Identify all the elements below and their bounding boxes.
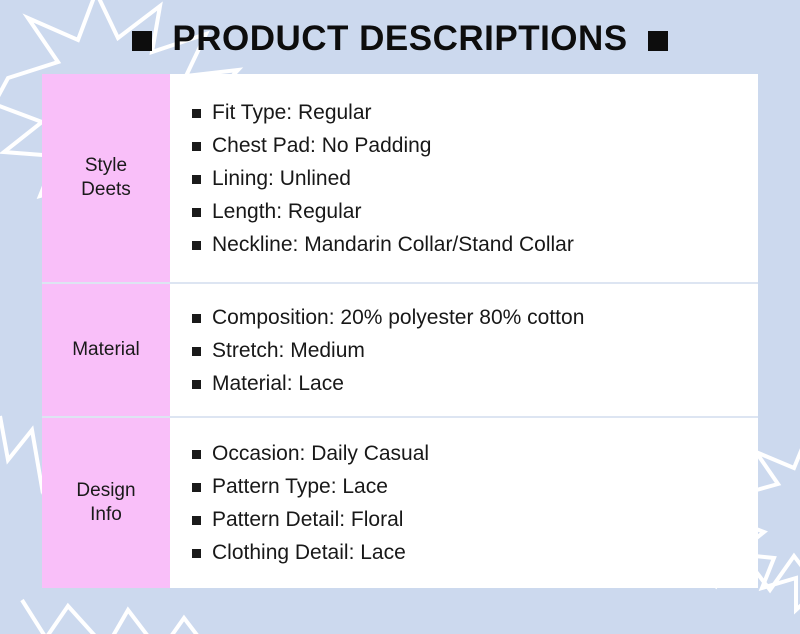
bullet-square-icon bbox=[192, 380, 201, 389]
bullet-square-icon bbox=[192, 241, 201, 250]
list-item-label: Composition: 20% polyester 80% cotton bbox=[212, 307, 584, 328]
list-item: Pattern Type: Lace bbox=[192, 470, 758, 503]
row-content-style-deets: Fit Type: Regular Chest Pad: No Padding … bbox=[170, 74, 758, 282]
table-row-design-info: Design Info Occasion: Daily Casual Patte… bbox=[42, 418, 758, 588]
square-marker-right-icon bbox=[648, 31, 668, 51]
list-item: Clothing Detail: Lace bbox=[192, 536, 758, 569]
list-item: Neckline: Mandarin Collar/Stand Collar bbox=[192, 228, 758, 261]
product-descriptions-card: Style Deets Fit Type: Regular Chest Pad:… bbox=[42, 74, 758, 588]
row-label-line1: Material bbox=[72, 338, 140, 362]
list-item: Length: Regular bbox=[192, 195, 758, 228]
bullet-square-icon bbox=[192, 549, 201, 558]
row-content-design-info: Occasion: Daily Casual Pattern Type: Lac… bbox=[170, 418, 758, 588]
list-item-label: Pattern Detail: Floral bbox=[212, 509, 403, 530]
list-item: Fit Type: Regular bbox=[192, 96, 758, 129]
bullet-square-icon bbox=[192, 314, 201, 323]
list-item-label: Length: Regular bbox=[212, 201, 361, 222]
list-item-label: Material: Lace bbox=[212, 373, 344, 394]
bullet-square-icon bbox=[192, 175, 201, 184]
bullet-square-icon bbox=[192, 208, 201, 217]
bullet-square-icon bbox=[192, 516, 201, 525]
list-item-label: Stretch: Medium bbox=[212, 340, 365, 361]
list-item-label: Fit Type: Regular bbox=[212, 102, 372, 123]
list-item: Composition: 20% polyester 80% cotton bbox=[192, 301, 758, 334]
page-title-bar: PRODUCT DESCRIPTIONS bbox=[0, 14, 800, 64]
list-item-label: Occasion: Daily Casual bbox=[212, 443, 429, 464]
bullet-square-icon bbox=[192, 450, 201, 459]
table-row-style-deets: Style Deets Fit Type: Regular Chest Pad:… bbox=[42, 74, 758, 284]
row-label-line1: Style bbox=[85, 155, 127, 176]
list-item-label: Neckline: Mandarin Collar/Stand Collar bbox=[212, 234, 574, 255]
row-label-material: Material bbox=[42, 284, 170, 416]
row-label-line2: Info bbox=[90, 504, 122, 525]
page-title: PRODUCT DESCRIPTIONS bbox=[172, 19, 627, 59]
list-item: Chest Pad: No Padding bbox=[192, 129, 758, 162]
list-item: Occasion: Daily Casual bbox=[192, 437, 758, 470]
list-item-label: Pattern Type: Lace bbox=[212, 476, 388, 497]
square-marker-left-icon bbox=[132, 31, 152, 51]
list-item: Pattern Detail: Floral bbox=[192, 503, 758, 536]
bullet-square-icon bbox=[192, 347, 201, 356]
list-item: Stretch: Medium bbox=[192, 334, 758, 367]
row-label-line2: Deets bbox=[81, 179, 131, 200]
row-content-material: Composition: 20% polyester 80% cotton St… bbox=[170, 284, 758, 416]
v-squiggle-bottom2-icon bbox=[22, 600, 216, 634]
list-item: Lining: Unlined bbox=[192, 162, 758, 195]
list-item-label: Clothing Detail: Lace bbox=[212, 542, 406, 563]
table-row-material: Material Composition: 20% polyester 80% … bbox=[42, 284, 758, 418]
list-item-label: Lining: Unlined bbox=[212, 168, 351, 189]
list-item: Material: Lace bbox=[192, 367, 758, 400]
bullet-square-icon bbox=[192, 109, 201, 118]
row-label-line1: Design bbox=[76, 480, 135, 501]
row-label-design-info: Design Info bbox=[42, 418, 170, 588]
bullet-square-icon bbox=[192, 483, 201, 492]
list-item-label: Chest Pad: No Padding bbox=[212, 135, 431, 156]
row-label-style-deets: Style Deets bbox=[42, 74, 170, 282]
bullet-square-icon bbox=[192, 142, 201, 151]
